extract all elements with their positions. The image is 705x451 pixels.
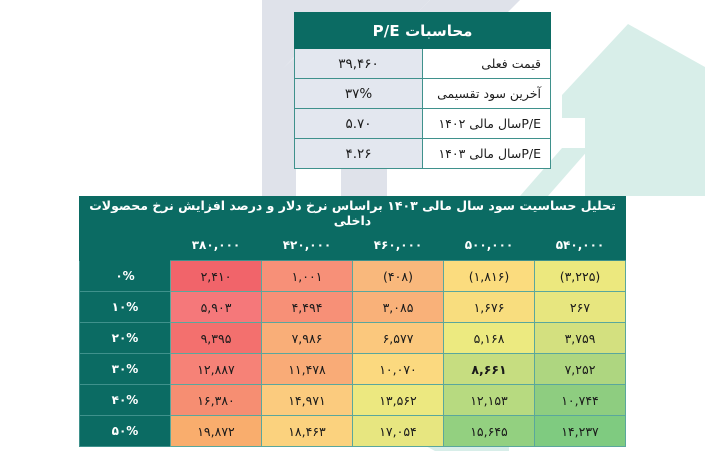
sensitivity-cell: ۹,۳۹۵ [171, 323, 262, 354]
sensitivity-cell: ۱۴,۹۷۱ [262, 385, 353, 416]
sensitivity-cell: ۱,۶۷۶ [444, 292, 535, 323]
sensitivity-cell: ۱۲,۱۵۳ [444, 385, 535, 416]
table-row: ۷,۲۵۲۸,۶۶۱۱۰,۰۷۰۱۱,۴۷۸۱۲,۸۸۷۳۰% [80, 354, 626, 385]
sensitivity-cell: ۷,۹۸۶ [262, 323, 353, 354]
table-row: (۳,۲۲۵)(۱,۸۱۶)(۴۰۸)۱,۰۰۱۲,۴۱۰۰% [80, 261, 626, 292]
pe-row-label: P/Eسال مالی ۱۴۰۳ [423, 139, 551, 169]
sensitivity-cell: ۸,۶۶۱ [444, 354, 535, 385]
sensitivity-column-header: ۵۰۰,۰۰۰ [444, 229, 535, 261]
sensitivity-row-header: ۵۰% [80, 416, 171, 447]
sensitivity-cell: ۶,۵۷۷ [353, 323, 444, 354]
sensitivity-cell: ۷,۲۵۲ [535, 354, 626, 385]
sensitivity-cell: (۴۰۸) [353, 261, 444, 292]
mint-house-shape [562, 24, 705, 196]
sensitivity-cell: (۳,۲۲۵) [535, 261, 626, 292]
sensitivity-row-header: ۴۰% [80, 385, 171, 416]
sensitivity-column-header: ۴۶۰,۰۰۰ [353, 229, 444, 261]
sensitivity-cell: ۳,۷۵۹ [535, 323, 626, 354]
sensitivity-cell: ۱۶,۳۸۰ [171, 385, 262, 416]
sensitivity-table-title: تحلیل حساسیت سود سال مالی ۱۴۰۳ براساس نر… [80, 197, 626, 229]
sensitivity-row-header: ۰% [80, 261, 171, 292]
pe-table-row: P/Eسال مالی ۱۴۰۲۵.۷۰ [295, 109, 551, 139]
pe-calculations-table: محاسبات P/E قیمت فعلی۳۹,۴۶۰آخرین سود تقس… [294, 12, 551, 169]
sensitivity-title-row: تحلیل حساسیت سود سال مالی ۱۴۰۳ براساس نر… [80, 197, 626, 229]
sensitivity-cell: ۳,۰۸۵ [353, 292, 444, 323]
sensitivity-row-header: ۱۰% [80, 292, 171, 323]
sensitivity-cell: ۱۵,۶۴۵ [444, 416, 535, 447]
pe-table-row: قیمت فعلی۳۹,۴۶۰ [295, 49, 551, 79]
table-row: ۱۴,۲۳۷۱۵,۶۴۵۱۷,۰۵۴۱۸,۴۶۳۱۹,۸۷۲۵۰% [80, 416, 626, 447]
sensitivity-cell: ۱۰,۷۴۴ [535, 385, 626, 416]
sensitivity-cell: ۱۲,۸۸۷ [171, 354, 262, 385]
table-row: ۱۰,۷۴۴۱۲,۱۵۳۱۳,۵۶۲۱۴,۹۷۱۱۶,۳۸۰۴۰% [80, 385, 626, 416]
pe-table-header-row: محاسبات P/E [295, 13, 551, 49]
pe-table-title: محاسبات P/E [295, 13, 551, 49]
sensitivity-cell: ۵,۹۰۳ [171, 292, 262, 323]
sensitivity-cell: ۱۰,۰۷۰ [353, 354, 444, 385]
table-row: ۲۶۷۱,۶۷۶۳,۰۸۵۴,۴۹۴۵,۹۰۳۱۰% [80, 292, 626, 323]
sensitivity-cell: ۲۶۷ [535, 292, 626, 323]
sensitivity-row-header: ۳۰% [80, 354, 171, 385]
pe-row-value: ۴.۲۶ [295, 139, 423, 169]
pe-row-value: ۵.۷۰ [295, 109, 423, 139]
sensitivity-analysis-table: تحلیل حساسیت سود سال مالی ۱۴۰۳ براساس نر… [79, 196, 626, 447]
sensitivity-cell: ۴,۴۹۴ [262, 292, 353, 323]
sensitivity-cell: ۲,۴۱۰ [171, 261, 262, 292]
pe-table-row: P/Eسال مالی ۱۴۰۳۴.۲۶ [295, 139, 551, 169]
pe-row-label: P/Eسال مالی ۱۴۰۲ [423, 109, 551, 139]
pe-row-label: آخرین سود تقسیمی [423, 79, 551, 109]
mint-house-body-shape [585, 118, 705, 196]
gray-band-left-shape [262, 56, 296, 196]
sensitivity-corner-header [80, 229, 171, 261]
sensitivity-column-header: ۴۲۰,۰۰۰ [262, 229, 353, 261]
sensitivity-column-header-row: ۵۴۰,۰۰۰۵۰۰,۰۰۰۴۶۰,۰۰۰۴۲۰,۰۰۰۳۸۰,۰۰۰ [80, 229, 626, 261]
pe-row-value: ۳۷% [295, 79, 423, 109]
sensitivity-column-header: ۵۴۰,۰۰۰ [535, 229, 626, 261]
pe-table-row: آخرین سود تقسیمی۳۷% [295, 79, 551, 109]
sensitivity-column-header: ۳۸۰,۰۰۰ [171, 229, 262, 261]
table-row: ۳,۷۵۹۵,۱۶۸۶,۵۷۷۷,۹۸۶۹,۳۹۵۲۰% [80, 323, 626, 354]
sensitivity-cell: ۱۱,۴۷۸ [262, 354, 353, 385]
pe-row-value: ۳۹,۴۶۰ [295, 49, 423, 79]
pe-row-label: قیمت فعلی [423, 49, 551, 79]
sensitivity-cell: ۱۴,۲۳۷ [535, 416, 626, 447]
sensitivity-cell: ۱۸,۴۶۳ [262, 416, 353, 447]
sensitivity-cell: ۵,۱۶۸ [444, 323, 535, 354]
sensitivity-cell: ۱۳,۵۶۲ [353, 385, 444, 416]
sensitivity-cell: ۱,۰۰۱ [262, 261, 353, 292]
sensitivity-cell: ۱۷,۰۵۴ [353, 416, 444, 447]
sensitivity-row-header: ۲۰% [80, 323, 171, 354]
sensitivity-cell: ۱۹,۸۷۲ [171, 416, 262, 447]
sensitivity-cell: (۱,۸۱۶) [444, 261, 535, 292]
